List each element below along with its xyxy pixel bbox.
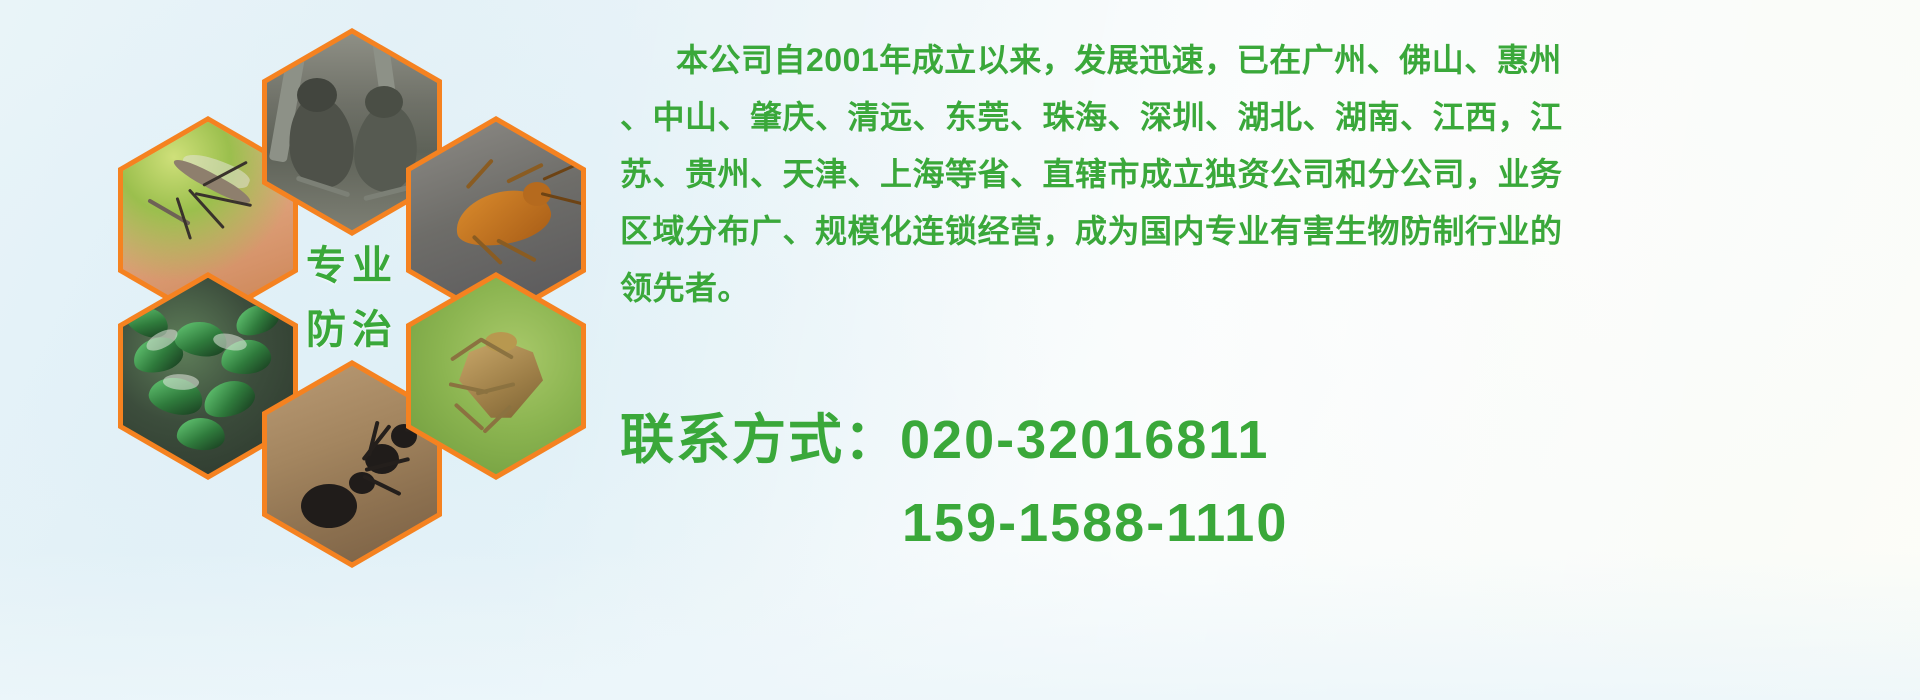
contact-block: 联系方式：020-32016811 159-1588-1110	[620, 395, 1910, 554]
background-bottom-glow	[0, 550, 1920, 700]
contact-phone-mobile[interactable]: 159-1588-1110	[620, 492, 1910, 554]
description-line-1: 本公司自2001年成立以来，发展迅速，已在广州、佛山、惠州	[620, 32, 1910, 89]
contact-phone-primary[interactable]: 联系方式：020-32016811	[620, 395, 1910, 474]
hexagon-photo-cluster: 专业 防治	[100, 8, 600, 568]
hex-label-line1: 专业	[306, 237, 398, 295]
hex-center-label: 专业 防治	[262, 194, 442, 402]
description-line-4: 区域分布广、规模化连锁经营，成为国内专业有害生物防制行业的	[620, 203, 1910, 260]
description-line-2: 、中山、肇庆、清远、东莞、珠海、深圳、湖北、湖南、江西，江	[620, 89, 1910, 146]
hex-label-line2: 防治	[306, 301, 398, 359]
description-line-3: 苏、贵州、天津、上海等省、直辖市成立独资公司和分公司，业务	[620, 146, 1910, 203]
description-line-5: 领先者。	[620, 260, 1910, 317]
company-description: 本公司自2001年成立以来，发展迅速，已在广州、佛山、惠州 、中山、肇庆、清远、…	[620, 32, 1910, 317]
promo-banner: 专业 防治 本公司自2001年成立以来，发展迅速，已在广州、佛山、惠州 、中山、…	[0, 0, 1920, 700]
